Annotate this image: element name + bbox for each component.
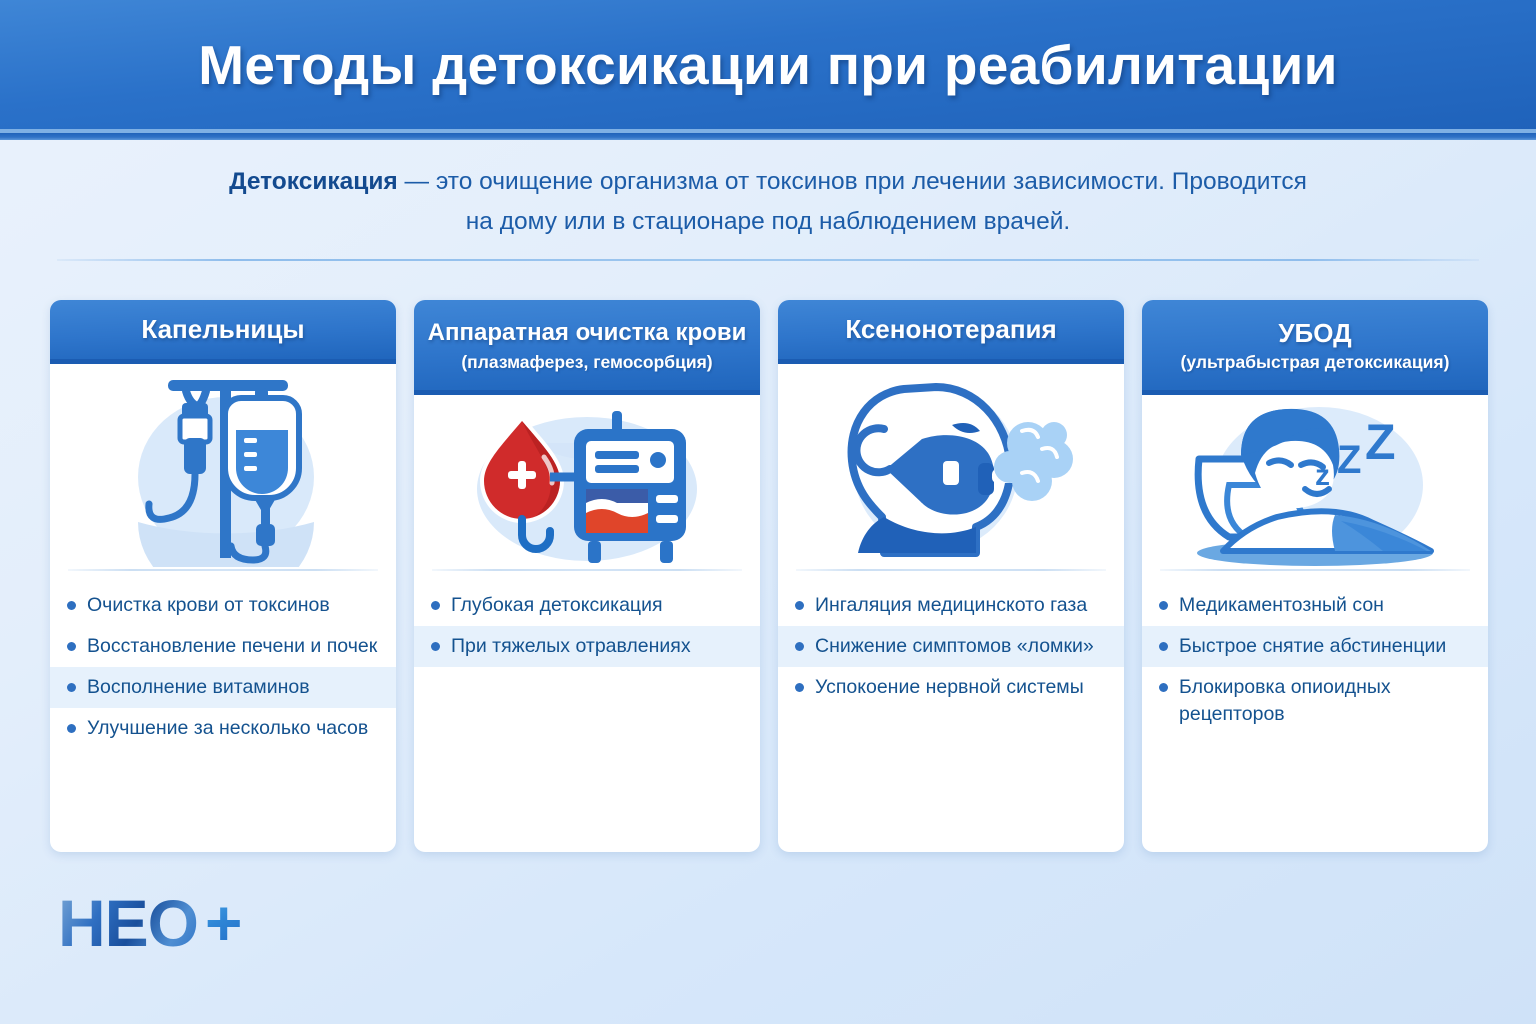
list-item: Очистка крови от токсинов — [50, 585, 396, 626]
page-title: Методы детоксикации при реабилитации — [198, 33, 1338, 97]
blood-purification-icon — [414, 395, 760, 569]
svg-text:z: z — [1315, 459, 1330, 492]
method-card-droppers[interactable]: Капельницы — [50, 300, 396, 852]
list-item: Глубокая детоксикация — [414, 585, 760, 626]
list-item-label: Улучшение за несколько часов — [87, 715, 380, 742]
list-item-label: Восстановление печени и почек — [87, 633, 380, 660]
method-card-ubod[interactable]: УБОД (ультрабыстрая детоксикация) z Z — [1142, 300, 1488, 852]
section-divider — [57, 259, 1479, 261]
card-title: Капельницы — [141, 312, 304, 346]
benefit-list: Глубокая детоксикация При тяжелых отравл… — [414, 571, 760, 852]
bullet-dot-icon — [1159, 642, 1168, 651]
list-item-label: Успокоение нервной системы — [815, 674, 1108, 701]
card-title: Аппаратная очистка крови — [428, 316, 747, 350]
list-item: Медикаментозный сон — [1142, 585, 1488, 626]
bullet-dot-icon — [795, 683, 804, 692]
page-header-band: Методы детоксикации при реабилитации — [0, 0, 1536, 133]
list-item-label: Быстрое снятие абстиненции — [1179, 633, 1472, 660]
list-item-label: Глубокая детоксикация — [451, 592, 744, 619]
bullet-dot-icon — [795, 642, 804, 651]
method-card-blood-purification[interactable]: Аппаратная очистка крови (плазмаферез, г… — [414, 300, 760, 852]
list-item: Восполнение витаминов — [50, 667, 396, 708]
list-item: Снижение симптомов «ломки» — [778, 626, 1124, 667]
svg-text:Z: Z — [1365, 414, 1396, 470]
card-title: Ксенонотерапия — [845, 312, 1056, 346]
card-title: УБОД — [1278, 316, 1351, 350]
bullet-dot-icon — [431, 601, 440, 610]
bullet-dot-icon — [67, 724, 76, 733]
card-header: Ксенонотерапия — [778, 300, 1124, 364]
bullet-dot-icon — [67, 642, 76, 651]
list-item-label: Восполнение витаминов — [87, 674, 380, 701]
benefit-list: Ингаляция медицинското газа Снижение сим… — [778, 571, 1124, 852]
list-item: Быстрое снятие абстиненции — [1142, 626, 1488, 667]
benefit-list: Медикаментозный сон Быстрое снятие абсти… — [1142, 571, 1488, 852]
list-item-label: Очистка крови от токсинов — [87, 592, 380, 619]
svg-text:Z: Z — [1337, 438, 1361, 482]
list-item-label: Ингаляция медицинското газа — [815, 592, 1108, 619]
list-item-label: Снижение симптомов «ломки» — [815, 633, 1108, 660]
brand-logo-plus-icon: + — [205, 891, 242, 955]
subtitle-lead-word: Детоксикация — [229, 168, 398, 195]
list-item-label: Блокировка опиоидных рецепторов — [1179, 674, 1472, 728]
bullet-dot-icon — [431, 642, 440, 651]
bullet-dot-icon — [67, 601, 76, 610]
card-header: Аппаратная очистка крови (плазмаферез, г… — [414, 300, 760, 395]
subtitle-block: Детоксикация — это очищение организма от… — [168, 162, 1368, 242]
iv-drip-icon — [50, 364, 396, 569]
bullet-dot-icon — [67, 683, 76, 692]
bullet-dot-icon — [795, 601, 804, 610]
subtitle-line-2: на дому или в стационаре под наблюдением… — [168, 202, 1368, 242]
subtitle-line-1-rest: — это очищение организма от токсинов при… — [398, 168, 1307, 195]
list-item: Успокоение нервной системы — [778, 667, 1124, 708]
card-header: Капельницы — [50, 300, 396, 364]
oxygen-mask-icon — [778, 364, 1124, 569]
header-underline-stripe — [0, 133, 1536, 140]
list-item: Блокировка опиоидных рецепторов — [1142, 667, 1488, 735]
benefit-list: Очистка крови от токсинов Восстановление… — [50, 571, 396, 852]
list-item-label: Медикаментозный сон — [1179, 592, 1472, 619]
card-subtitle: (ультрабыстрая детоксикация) — [1181, 350, 1450, 374]
list-item: Восстановление печени и почек — [50, 626, 396, 667]
list-item: Улучшение за несколько часов — [50, 708, 396, 749]
card-subtitle: (плазмаферез, гемосорбция) — [461, 350, 712, 374]
card-header: УБОД (ультрабыстрая детоксикация) — [1142, 300, 1488, 395]
list-item: При тяжелых отравлениях — [414, 626, 760, 667]
brand-logo: HEO + — [58, 890, 242, 956]
list-item: Ингаляция медицинското газа — [778, 585, 1124, 626]
subtitle-line-1: Детоксикация — это очищение организма от… — [168, 162, 1368, 202]
brand-logo-text: HEO — [58, 890, 198, 956]
method-card-xenon-therapy[interactable]: Ксенонотерапия — [778, 300, 1124, 852]
bullet-dot-icon — [1159, 601, 1168, 610]
method-cards-grid: Капельницы — [50, 300, 1488, 852]
bullet-dot-icon — [1159, 683, 1168, 692]
list-item-label: При тяжелых отравлениях — [451, 633, 744, 660]
sleeping-person-icon: z Z Z — [1142, 395, 1488, 569]
